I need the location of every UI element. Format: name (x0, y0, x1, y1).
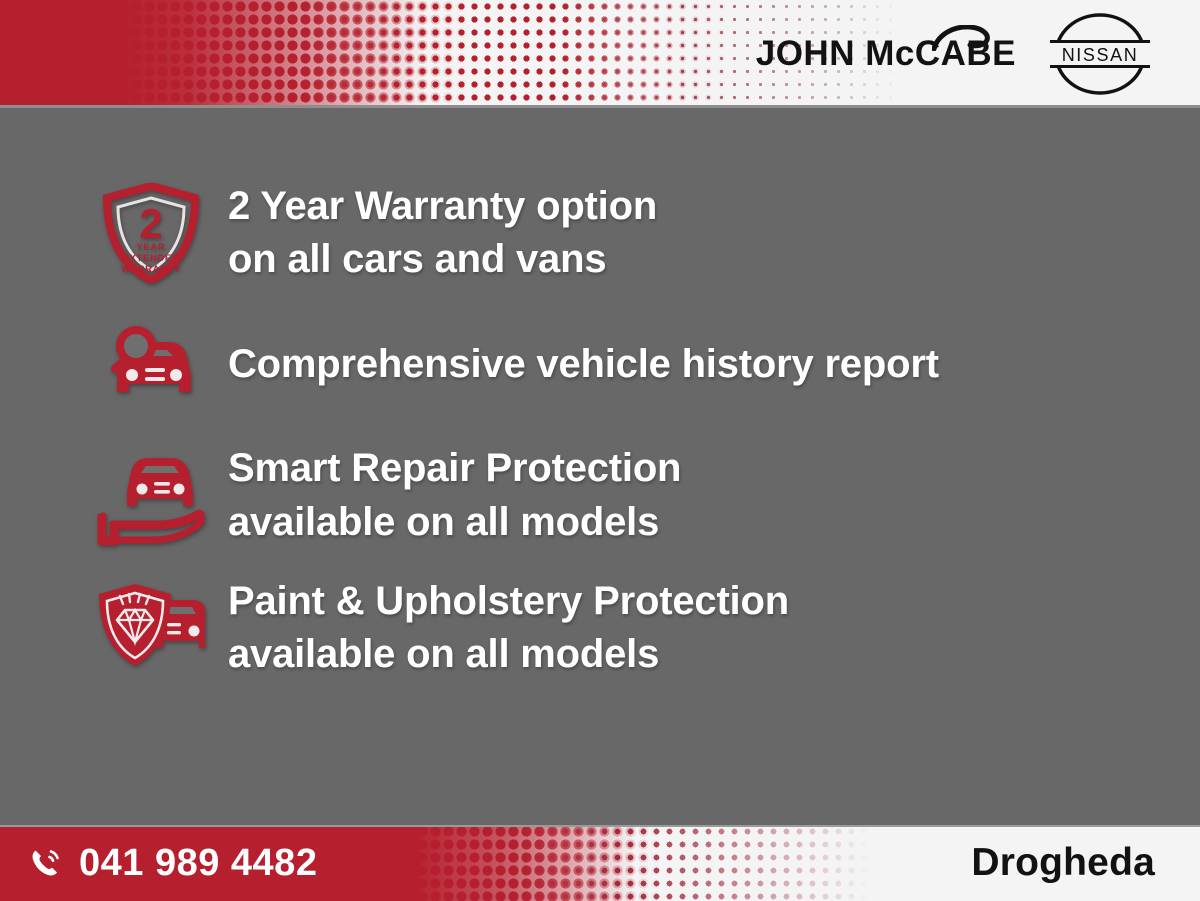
feature-label-history-report: Comprehensive vehicle history report (228, 338, 939, 391)
brand-swoosh-icon (932, 25, 990, 51)
feature-list: 2 YEAR EXTENDED WARRANTY 2 Year Warranty… (0, 108, 1200, 707)
brand-lockup: JOHN McCABE NISSAN (756, 0, 1158, 108)
feature-item-paint-protection: Paint & Upholstery Protection available … (0, 575, 1200, 681)
feature-item-history-report: Comprehensive vehicle history report (0, 312, 1200, 416)
feature-label-paint-protection: Paint & Upholstery Protection available … (228, 575, 789, 681)
poster-header: JOHN McCABE NISSAN (0, 0, 1200, 108)
dealership-location: Drogheda (971, 825, 1155, 901)
feature-label-smart-repair: Smart Repair Protection available on all… (228, 442, 681, 548)
phone-call-icon[interactable] (28, 846, 62, 880)
car-magnifier-icon (96, 312, 206, 416)
warranty-badge-line1: YEAR (136, 242, 165, 252)
car-on-hand-icon (96, 444, 206, 548)
feature-item-warranty: 2 YEAR EXTENDED WARRANTY 2 Year Warranty… (0, 180, 1200, 286)
contact-phone[interactable]: 041 989 4482 (28, 825, 317, 901)
warranty-badge-line3: WARRANTY (121, 264, 181, 275)
footer-divider (0, 825, 1200, 827)
svg-text:NISSAN: NISSAN (1062, 45, 1139, 65)
warranty-badge-number: 2 (139, 200, 162, 247)
header-red-block (0, 0, 120, 108)
diamond-shield-car-icon (96, 576, 206, 680)
dealer-brand-name: JOHN McCABE (756, 34, 1016, 74)
nissan-logo-icon: NISSAN (1042, 11, 1158, 97)
warranty-badge-line2: EXTENDED (123, 253, 180, 264)
feature-label-warranty: 2 Year Warranty option on all cars and v… (228, 180, 657, 286)
location-name-text: Drogheda (971, 841, 1155, 885)
warranty-shield-icon: 2 YEAR EXTENDED WARRANTY (96, 181, 206, 285)
poster-footer: 041 989 4482 Drogheda (0, 825, 1200, 901)
feature-item-smart-repair: Smart Repair Protection available on all… (0, 442, 1200, 548)
promo-poster: JOHN McCABE NISSAN (0, 0, 1200, 901)
phone-number-text[interactable]: 041 989 4482 (79, 842, 317, 885)
poster-body: 2 YEAR EXTENDED WARRANTY 2 Year Warranty… (0, 108, 1200, 825)
